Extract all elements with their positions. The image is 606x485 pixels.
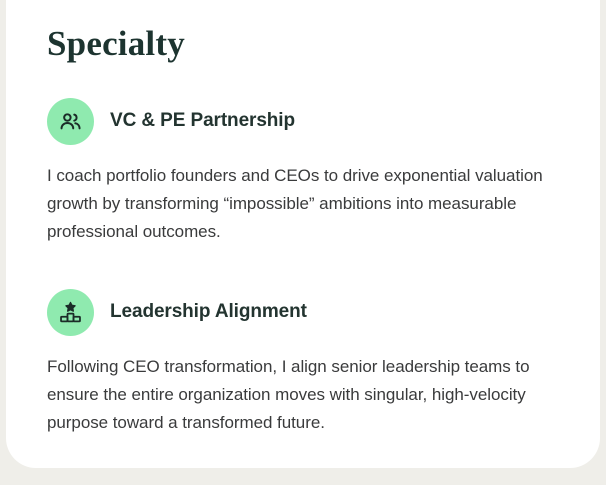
users-icon [47, 98, 94, 145]
podium-award-icon [47, 289, 94, 336]
section-header: VC & PE Partnership [47, 98, 570, 145]
section-header: Leadership Alignment [47, 289, 570, 336]
section-body: Following CEO transformation, I align se… [47, 353, 565, 437]
card-content: Specialty VC & PE Partnership I coach po… [47, 0, 570, 454]
section-title: Leadership Alignment [110, 301, 307, 324]
section-body: I coach portfolio founders and CEOs to d… [47, 162, 565, 246]
page-title: Specialty [47, 0, 570, 64]
section-title: VC & PE Partnership [110, 110, 295, 133]
specialty-item-leadership-alignment: Leadership Alignment Following CEO trans… [47, 289, 570, 437]
specialty-item-vc-pe-partnership: VC & PE Partnership I coach portfolio fo… [47, 98, 570, 246]
specialty-card: Specialty VC & PE Partnership I coach po… [6, 0, 600, 468]
